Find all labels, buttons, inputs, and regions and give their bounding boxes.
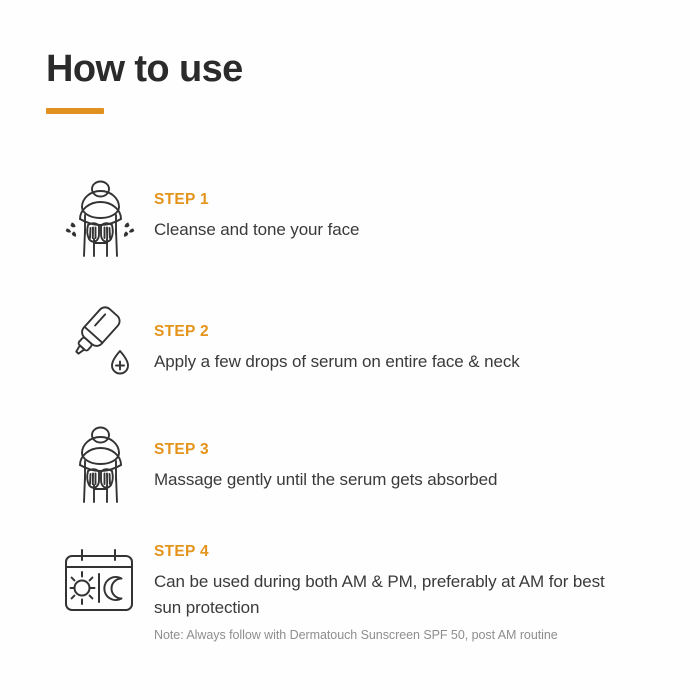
list-item: STEP 4 Can be used during both AM & PM, … bbox=[46, 534, 666, 645]
calendar-day-night-icon bbox=[46, 534, 154, 626]
list-item: STEP 3 Massage gently until the serum ge… bbox=[46, 414, 666, 518]
step-label: STEP 1 bbox=[154, 192, 666, 208]
list-item: STEP 2 Apply a few drops of serum on ent… bbox=[46, 292, 666, 396]
step-text: Cleanse and tone your face bbox=[154, 217, 624, 243]
step-label: STEP 2 bbox=[154, 324, 666, 340]
how-to-use-panel: How to use bbox=[0, 0, 700, 700]
face-washing-icon bbox=[46, 168, 154, 266]
list-item: STEP 1 Cleanse and tone your face bbox=[46, 168, 666, 272]
step-text: Massage gently until the serum gets abso… bbox=[154, 467, 624, 493]
page-title: How to use bbox=[46, 50, 243, 90]
step-body: STEP 3 Massage gently until the serum ge… bbox=[154, 414, 666, 493]
step-body: STEP 2 Apply a few drops of serum on ent… bbox=[154, 292, 666, 375]
step-label: STEP 4 bbox=[154, 544, 666, 560]
header: How to use bbox=[46, 50, 243, 114]
step-body: STEP 1 Cleanse and tone your face bbox=[154, 168, 666, 243]
step-body: STEP 4 Can be used during both AM & PM, … bbox=[154, 534, 666, 645]
step-text: Apply a few drops of serum on entire fac… bbox=[154, 349, 624, 375]
step-note: Note: Always follow with Dermatouch Suns… bbox=[154, 627, 666, 645]
face-massage-icon bbox=[46, 414, 154, 512]
serum-dropper-bottle-icon bbox=[46, 292, 154, 390]
step-label: STEP 3 bbox=[154, 442, 666, 458]
steps-list: STEP 1 Cleanse and tone your face bbox=[46, 168, 666, 645]
step-text: Can be used during both AM & PM, prefera… bbox=[154, 569, 624, 622]
title-underline-accent bbox=[46, 108, 104, 114]
